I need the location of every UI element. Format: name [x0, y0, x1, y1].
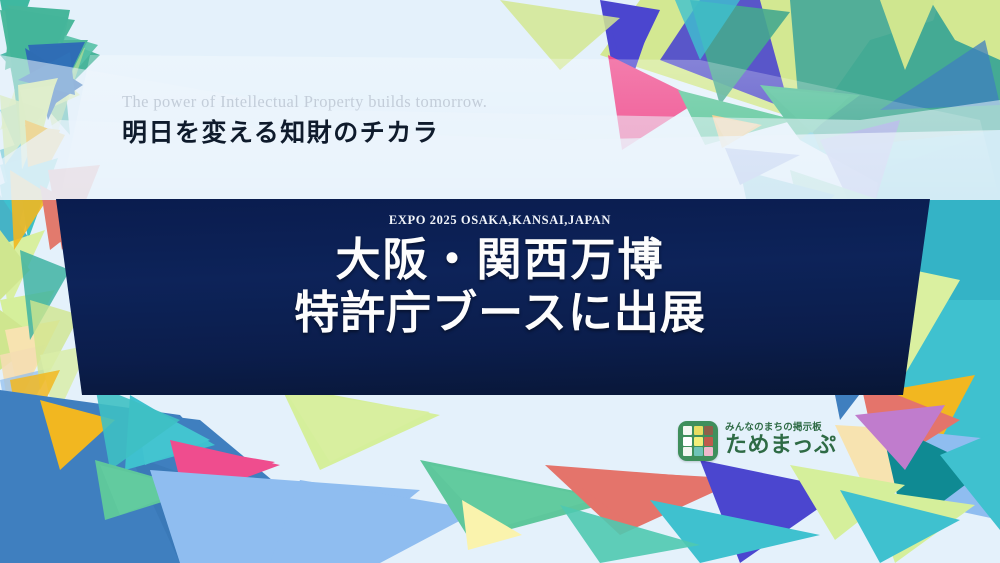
- logo-subtitle: みんなのまちの掲示板: [725, 423, 837, 433]
- announcement-banner: EXPO 2025 OSAKA,KANSAI,JAPAN 大阪・関西万博 特許庁…: [0, 199, 1000, 395]
- expo-eyebrow-text: EXPO 2025 OSAKA,KANSAI,JAPAN: [389, 213, 611, 228]
- logo-tile: [683, 426, 692, 435]
- logo-tile: [704, 426, 713, 435]
- tagline-japanese: 明日を変える知財のチカラ: [122, 116, 742, 150]
- tamemap-logo[interactable]: みんなのまちの掲示板 ためまっぷ: [678, 421, 837, 461]
- logo-tile: [704, 447, 713, 456]
- logo-tile: [694, 437, 703, 446]
- tamemap-logo-icon: [678, 421, 718, 461]
- logo-tile: [694, 426, 703, 435]
- logo-tile: [683, 437, 692, 446]
- headline-line-2: 特許庁ブースに出展: [294, 287, 706, 340]
- headline-line-1: 大阪・関西万博: [294, 234, 706, 287]
- banner-content: EXPO 2025 OSAKA,KANSAI,JAPAN 大阪・関西万博 特許庁…: [0, 199, 1000, 395]
- tamemap-logo-text: みんなのまちの掲示板 ためまっぷ: [725, 423, 837, 459]
- logo-tile: [694, 447, 703, 456]
- banner-headline: 大阪・関西万博 特許庁ブースに出展: [294, 234, 706, 339]
- logo-wordmark: ためまっぷ: [725, 434, 837, 459]
- tagline-block: The power of Intellectual Property build…: [122, 92, 742, 149]
- tagline-english: The power of Intellectual Property build…: [122, 92, 742, 113]
- logo-tile-grid: [683, 426, 713, 456]
- logo-tile: [704, 437, 713, 446]
- logo-tile: [683, 447, 692, 456]
- poster-canvas: The power of Intellectual Property build…: [0, 0, 1000, 563]
